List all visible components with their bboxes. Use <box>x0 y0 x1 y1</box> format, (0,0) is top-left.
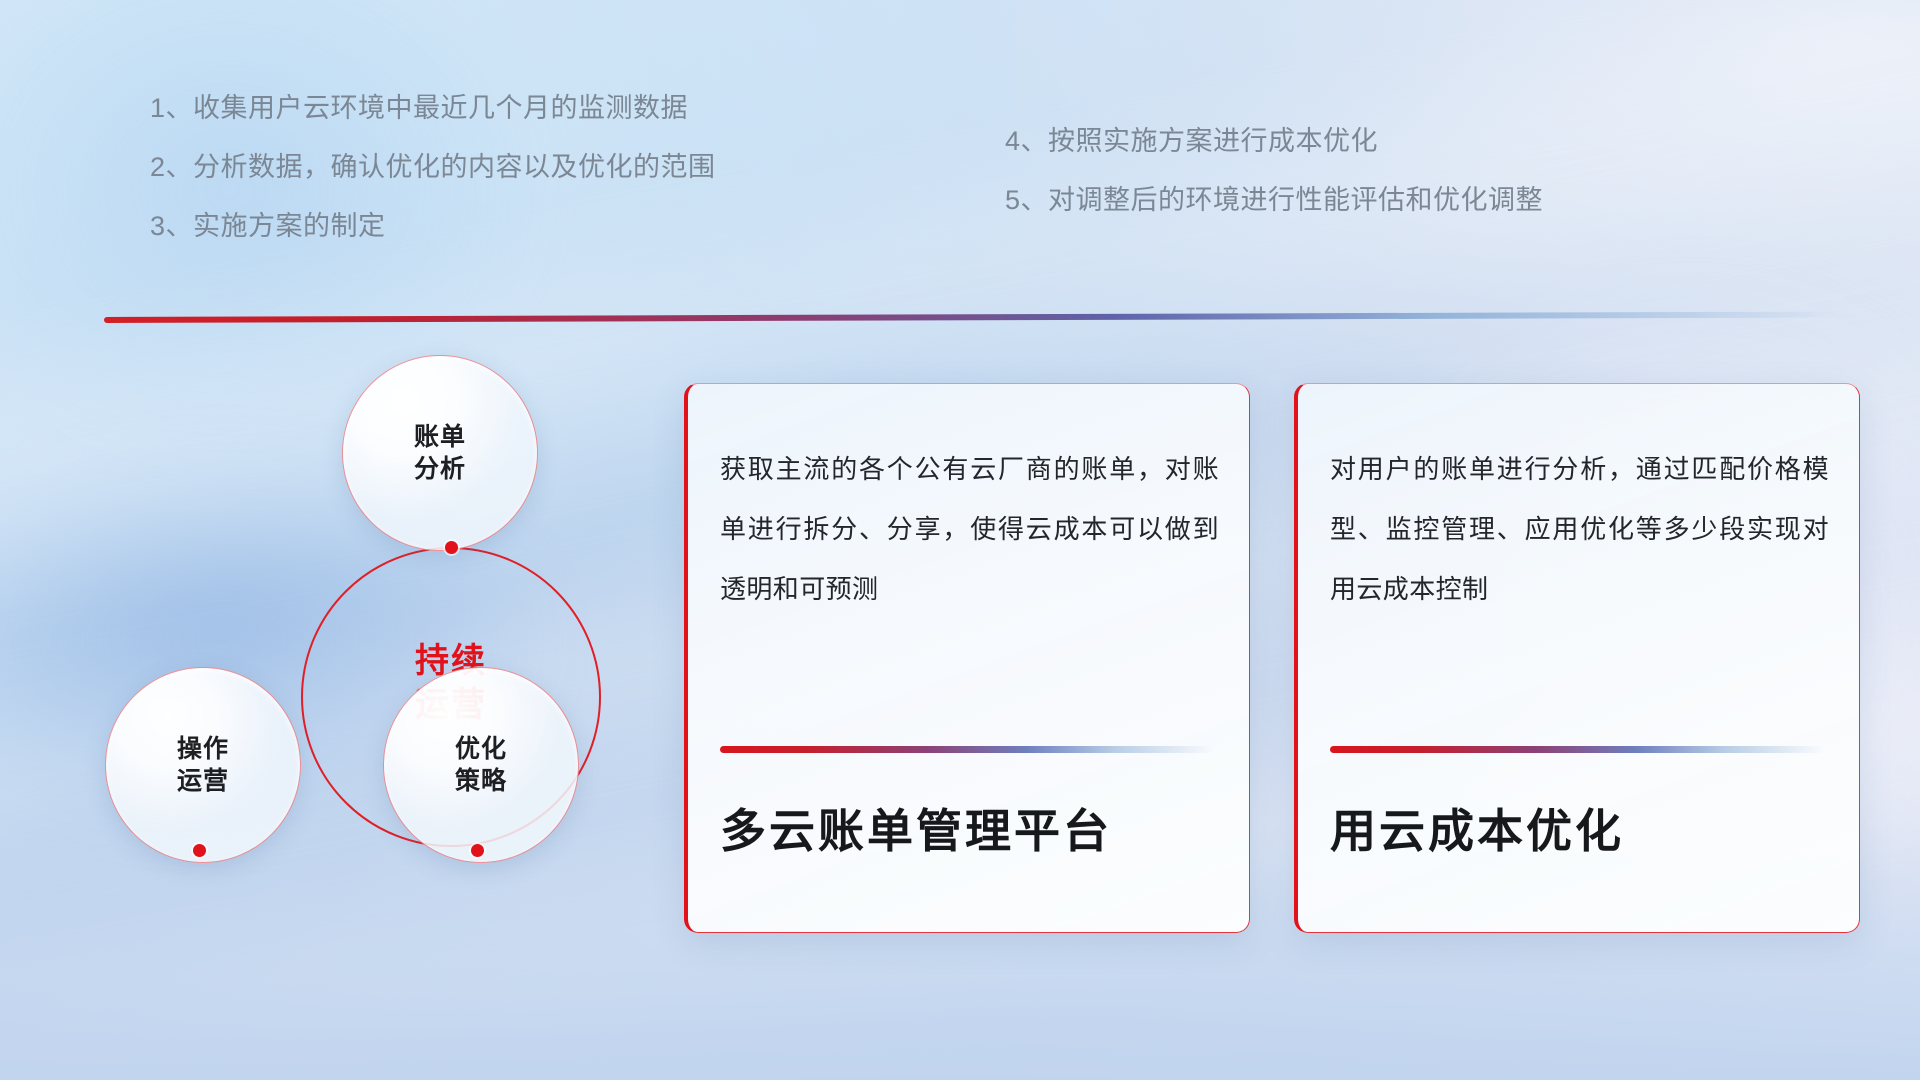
card-body-text: 获取主流的各个公有云厂商的账单，对账单进行拆分、分享，使得云成本可以做到透明和可… <box>720 440 1219 619</box>
card-title: 多云账单管理平台 <box>720 804 1225 859</box>
step-item-2: 2、分析数据，确认优化的内容以及优化的范围 <box>150 154 716 181</box>
diagram-node-left-dot <box>193 844 206 857</box>
bubble-line-2: 运营 <box>177 767 229 795</box>
diagram-node-top-dot <box>445 541 458 554</box>
process-steps: 1、收集用户云环境中最近几个月的监测数据 2、分析数据，确认优化的内容以及优化的… <box>0 95 1920 245</box>
continuous-operation-diagram: 持续 运营 账单分析 操作运营 优化策略 <box>105 355 635 955</box>
bubble-line-2: 分析 <box>414 455 466 483</box>
bubble-line-1: 账单 <box>414 423 466 451</box>
feature-card-multicloud-billing[interactable]: 获取主流的各个公有云厂商的账单，对账单进行拆分、分享，使得云成本可以做到透明和可… <box>684 383 1250 933</box>
diagram-bubble-bill-analysis[interactable]: 账单分析 <box>342 355 538 551</box>
diagram-bubble-optimization-strategy[interactable]: 优化策略 <box>383 667 579 863</box>
bubble-label-operations: 操作运营 <box>177 733 229 797</box>
bubble-line-1: 优化 <box>455 735 507 763</box>
bubble-label-optimization-strategy: 优化策略 <box>455 733 507 797</box>
feature-card-cloud-cost-optimization[interactable]: 对用户的账单进行分析，通过匹配价格模型、监控管理、应用优化等多少段实现对用云成本… <box>1294 383 1860 933</box>
bubble-line-1: 操作 <box>177 735 229 763</box>
steps-left-column: 1、收集用户云环境中最近几个月的监测数据 2、分析数据，确认优化的内容以及优化的… <box>150 95 716 272</box>
card-body-text: 对用户的账单进行分析，通过匹配价格模型、监控管理、应用优化等多少段实现对用云成本… <box>1330 440 1829 619</box>
bubble-label-bill-analysis: 账单分析 <box>414 421 466 485</box>
step-item-5: 5、对调整后的环境进行性能评估和优化调整 <box>1005 187 1543 214</box>
card-title: 用云成本优化 <box>1330 804 1835 859</box>
card-divider <box>1330 746 1824 753</box>
card-divider <box>720 746 1214 753</box>
diagram-node-right-dot <box>471 844 484 857</box>
bubble-line-2: 策略 <box>455 767 507 795</box>
step-item-4: 4、按照实施方案进行成本优化 <box>1005 128 1543 155</box>
slide-canvas: 1、收集用户云环境中最近几个月的监测数据 2、分析数据，确认优化的内容以及优化的… <box>0 0 1920 1080</box>
diagram-bubble-operations[interactable]: 操作运营 <box>105 667 301 863</box>
step-item-1: 1、收集用户云环境中最近几个月的监测数据 <box>150 95 716 122</box>
step-item-3: 3、实施方案的制定 <box>150 213 716 240</box>
steps-right-column: 4、按照实施方案进行成本优化 5、对调整后的环境进行性能评估和优化调整 <box>1005 128 1543 246</box>
